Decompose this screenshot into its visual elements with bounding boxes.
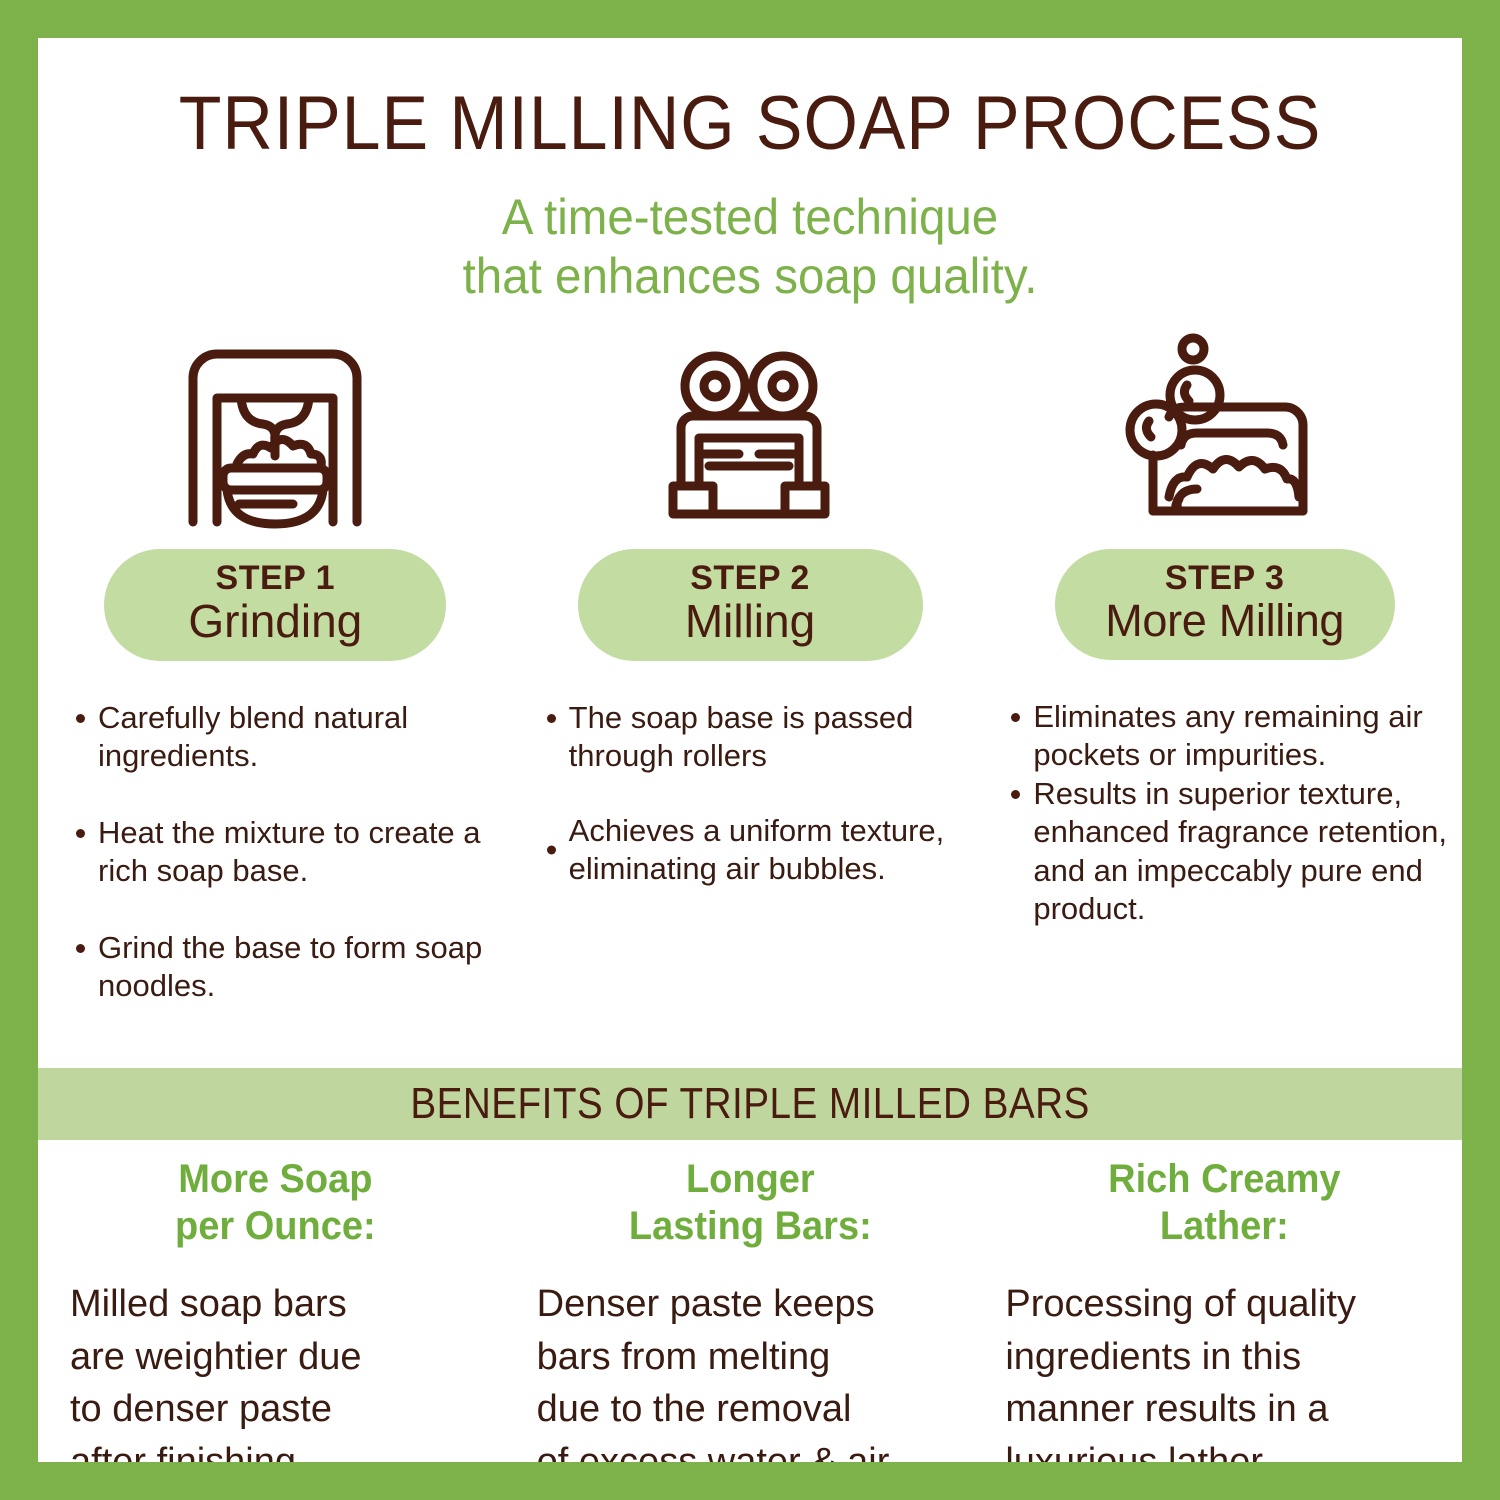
- benefit-2-body-line-4: of excess water & air: [537, 1436, 970, 1462]
- bullet-dot-icon: [547, 714, 556, 723]
- step-2-pill-row: STEP 2 Milling: [513, 549, 988, 661]
- step-1-name: Grinding: [104, 597, 446, 645]
- benefit-1-heading: More Soap per Ounce:: [67, 1156, 484, 1250]
- list-item-text: Eliminates any remaining air pockets or …: [1033, 699, 1422, 772]
- list-item: Results in superior texture, enhanced fr…: [995, 775, 1454, 929]
- benefit-2-heading: Longer Lasting Bars:: [542, 1156, 959, 1250]
- step-3-pill-row: STEP 3 More Milling: [987, 549, 1462, 660]
- page-title: TRIPLE MILLING SOAP PROCESS: [95, 86, 1405, 162]
- step-3-bullets: Eliminates any remaining air pockets or …: [987, 698, 1462, 929]
- list-item: Carefully blend natural ingredients.: [60, 699, 507, 776]
- step-2-bullets: The soap base is passed through rollers …: [513, 699, 988, 889]
- list-item: Heat the mixture to create a rich soap b…: [60, 814, 507, 891]
- benefit-1-heading-line-2: per Ounce:: [67, 1203, 484, 1250]
- step-3-label: STEP 3: [1055, 561, 1395, 597]
- benefit-3-body: Processing of quality ingredients in thi…: [1005, 1278, 1444, 1462]
- step-1-bullets: Carefully blend natural ingredients. Hea…: [38, 699, 513, 1006]
- benefit-2-body-line-2: bars from melting: [537, 1331, 970, 1383]
- step-3-pill[interactable]: STEP 3 More Milling: [1055, 549, 1395, 660]
- benefit-1-body: Milled soap bars are weightier due to de…: [56, 1278, 495, 1462]
- step-2-pill[interactable]: STEP 2 Milling: [578, 549, 923, 661]
- step-2-label: STEP 2: [578, 561, 923, 597]
- benefit-3-body-line-2: ingredients in this: [1005, 1331, 1444, 1383]
- benefit-2-body-line-3: due to the removal: [537, 1383, 970, 1435]
- step-3-name: More Milling: [1055, 597, 1395, 644]
- benefit-1-body-line-4: after finishing: [70, 1436, 495, 1462]
- step-2-name: Milling: [578, 597, 923, 645]
- benefit-3-body-line-1: Processing of quality: [1005, 1278, 1444, 1330]
- soap-bar-lather-icon: [987, 328, 1462, 543]
- list-item: Eliminates any remaining air pockets or …: [995, 698, 1454, 775]
- benefit-3-heading-line-2: Lather:: [1016, 1203, 1433, 1250]
- step-1-pill-row: STEP 1 Grinding: [38, 549, 513, 661]
- process-steps: STEP 1 Grinding Carefully blend natural …: [38, 328, 1462, 1044]
- step-column-2: STEP 2 Milling The soap base is passed t…: [513, 328, 988, 1044]
- grinder-bowl-icon: [38, 328, 513, 543]
- list-item-text: Grind the base to form soap noodles.: [98, 930, 482, 1003]
- benefit-1-body-line-3: to denser paste: [70, 1383, 495, 1435]
- list-item: Achieves a uniform texture, eliminating …: [531, 812, 978, 889]
- benefit-3-body-line-3: manner results in a: [1005, 1383, 1444, 1435]
- benefit-3-heading-line-1: Rich Creamy: [1016, 1156, 1433, 1203]
- subtitle-line-2: that enhances soap quality.: [74, 247, 1427, 306]
- list-item: Grind the base to form soap noodles.: [60, 929, 507, 1006]
- benefits-band-title: BENEFITS OF TRIPLE MILLED BARS: [410, 1079, 1089, 1129]
- list-item-text: Results in superior texture, enhanced fr…: [1033, 776, 1447, 926]
- step-column-3: STEP 3 More Milling Eliminates any remai…: [987, 328, 1462, 1044]
- benefits-columns: More Soap per Ounce: Milled soap bars ar…: [38, 1156, 1462, 1462]
- step-1-pill[interactable]: STEP 1 Grinding: [104, 549, 446, 661]
- page-subtitle: A time-tested technique that enhances so…: [74, 188, 1427, 306]
- benefit-2-heading-line-1: Longer: [542, 1156, 959, 1203]
- bullet-dot-icon: [76, 714, 85, 723]
- bullet-dot-icon: [547, 846, 556, 855]
- bullet-dot-icon: [1011, 713, 1020, 722]
- benefit-1-heading-line-1: More Soap: [67, 1156, 484, 1203]
- list-item: The soap base is passed through rollers: [531, 699, 978, 776]
- bullet-dot-icon: [76, 944, 85, 953]
- infographic-poster: TRIPLE MILLING SOAP PROCESS A time-teste…: [0, 0, 1500, 1500]
- benefit-2-body-line-1: Denser paste keeps: [537, 1278, 970, 1330]
- list-item-text: Heat the mixture to create a rich soap b…: [98, 815, 481, 888]
- benefit-1-body-line-2: are weightier due: [70, 1331, 495, 1383]
- benefit-column-1: More Soap per Ounce: Milled soap bars ar…: [38, 1156, 513, 1462]
- bullet-dot-icon: [76, 829, 85, 838]
- step-column-1: STEP 1 Grinding Carefully blend natural …: [38, 328, 513, 1044]
- list-item-text: Achieves a uniform texture, eliminating …: [569, 813, 945, 886]
- subtitle-line-1: A time-tested technique: [74, 188, 1427, 247]
- step-1-label: STEP 1: [104, 561, 446, 597]
- bullet-dot-icon: [1011, 790, 1020, 799]
- benefit-1-body-line-1: Milled soap bars: [70, 1278, 495, 1330]
- benefit-3-body-line-4: luxurious lather: [1005, 1436, 1444, 1462]
- list-item-text: The soap base is passed through rollers: [569, 700, 914, 773]
- benefit-column-2: Longer Lasting Bars: Denser paste keeps …: [513, 1156, 988, 1462]
- benefit-3-heading: Rich Creamy Lather:: [1016, 1156, 1433, 1250]
- benefit-column-3: Rich Creamy Lather: Processing of qualit…: [987, 1156, 1462, 1462]
- benefit-2-heading-line-2: Lasting Bars:: [542, 1203, 959, 1250]
- benefits-band: BENEFITS OF TRIPLE MILLED BARS: [38, 1068, 1462, 1140]
- poster-canvas: TRIPLE MILLING SOAP PROCESS A time-teste…: [38, 38, 1462, 1462]
- list-item-text: Carefully blend natural ingredients.: [98, 700, 408, 773]
- benefit-2-body: Denser paste keeps bars from melting due…: [531, 1278, 970, 1462]
- roller-mill-icon: [513, 328, 988, 543]
